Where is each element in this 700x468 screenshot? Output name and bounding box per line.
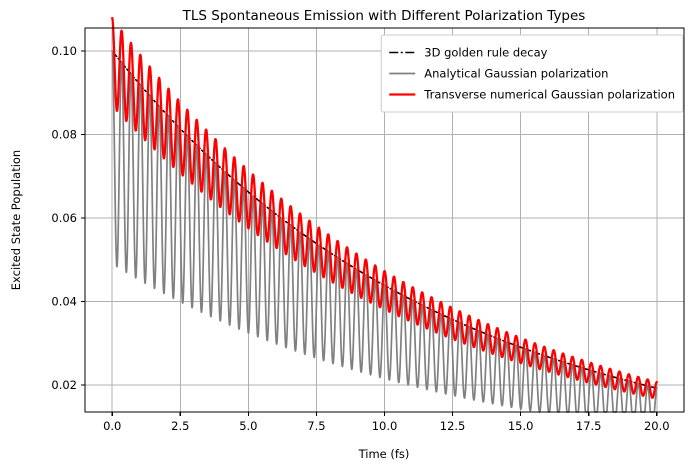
x-tick-label-1: 2.5 (171, 419, 189, 433)
x-tick-label-0: 0.0 (103, 419, 121, 433)
chart-title: TLS Spontaneous Emission with Different … (182, 8, 586, 24)
legend-label-0: 3D golden rule decay (424, 46, 547, 60)
x-tick-label-2: 5.0 (239, 419, 257, 433)
x-axis-label: Time (fs) (358, 447, 410, 461)
legend[interactable]: 3D golden rule decayAnalytical Gaussian … (381, 35, 683, 112)
x-tick-label-4: 10.0 (372, 419, 398, 433)
y-tick-label-2: 0.06 (51, 211, 77, 225)
x-tick-labels: 0.02.55.07.510.012.515.017.520.0 (103, 419, 669, 433)
x-tick-label-7: 17.5 (576, 419, 602, 433)
y-tick-label-4: 0.10 (51, 44, 77, 58)
y-tick-label-0: 0.02 (51, 378, 77, 392)
x-tick-label-3: 7.5 (307, 419, 325, 433)
y-tick-label-3: 0.08 (51, 127, 77, 141)
legend-label-2: Transverse numerical Gaussian polarizati… (423, 88, 675, 102)
y-tick-label-1: 0.04 (51, 294, 77, 308)
x-tick-label-8: 20.0 (644, 419, 670, 433)
y-axis-label: Excited State Population (9, 150, 23, 290)
x-tick-label-6: 15.0 (508, 419, 534, 433)
plot-svg: 0.02.55.07.510.012.515.017.520.0 0.020.0… (0, 0, 700, 468)
chart-figure: 0.02.55.07.510.012.515.017.520.0 0.020.0… (0, 0, 700, 468)
x-tick-label-5: 12.5 (440, 419, 466, 433)
legend-label-1: Analytical Gaussian polarization (424, 67, 608, 81)
